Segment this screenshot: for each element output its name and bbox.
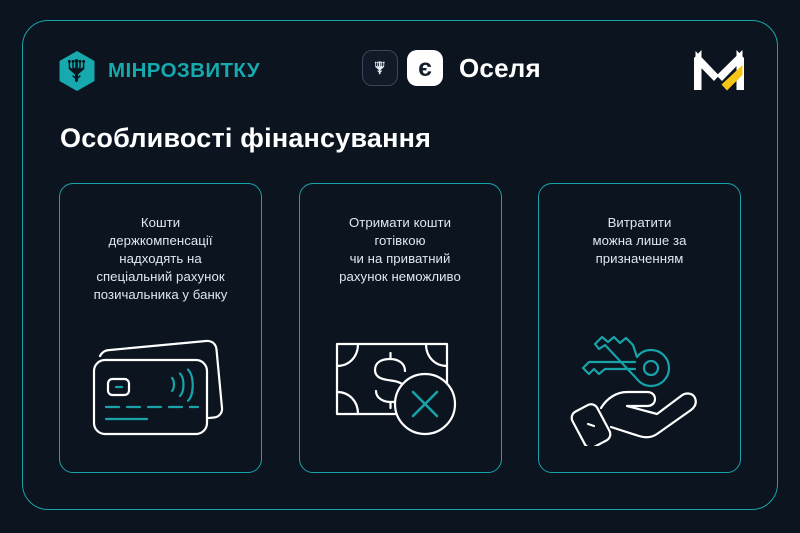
tryzub-glyph-icon: [369, 56, 391, 80]
ministry-logo-label: МІНРОЗВИТКУ: [108, 59, 260, 83]
card-text: Витратити можна лише за призначенням: [547, 214, 733, 268]
card-funding-account: Кошти держкомпенсації надходять на спеці…: [59, 183, 262, 473]
card-icon-wrapper: [539, 316, 740, 446]
tryzub-square-icon: [362, 50, 398, 86]
card-text: Отримати кошти готівкою чи на приватний …: [307, 214, 493, 286]
keys-in-hand-icon: [565, 326, 715, 446]
banknote-forbidden-icon: [325, 326, 475, 446]
card-text: Кошти держкомпенсації надходять на спеці…: [68, 214, 254, 304]
card-icon-wrapper: [300, 316, 501, 446]
m-monogram-icon: [692, 48, 746, 92]
diia-logo-icon: є: [407, 50, 443, 86]
program-logo-label: Оселя: [459, 53, 541, 84]
card-no-cash: Отримати кошти готівкою чи на приватний …: [299, 183, 502, 473]
slide: МІНРОЗВИТКУ є Оселя Особливості фінансув…: [0, 0, 800, 533]
tryzub-hexagon-icon: [58, 50, 96, 92]
cards-row: Кошти держкомпенсації надходять на спеці…: [59, 183, 741, 473]
page-title: Особливості фінансування: [60, 123, 431, 154]
program-logo: є Оселя: [362, 50, 541, 86]
card-icon-wrapper: [60, 316, 261, 446]
card-purpose-only: Витратити можна лише за призначенням: [538, 183, 741, 473]
header: МІНРОЗВИТКУ є Оселя: [22, 20, 778, 106]
ministry-logo: МІНРОЗВИТКУ: [58, 50, 260, 92]
credit-cards-icon: [86, 326, 236, 446]
